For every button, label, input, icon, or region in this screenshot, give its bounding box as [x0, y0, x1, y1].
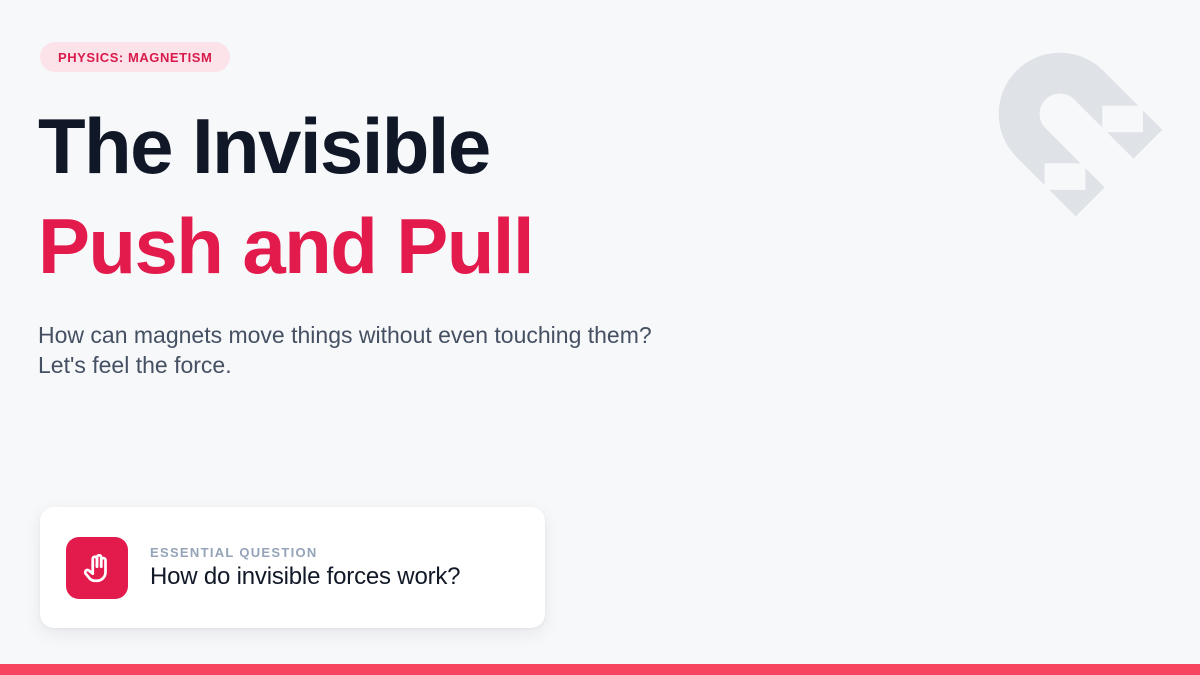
essential-question-value: How do invisible forces work?: [150, 563, 460, 591]
page-title: The Invisible Push and Pull: [38, 96, 758, 296]
subject-badge: PHYSICS: MAGNETISM: [40, 42, 230, 72]
subtitle-text: How can magnets move things without even…: [38, 320, 698, 380]
essential-question-label: ESSENTIAL QUESTION: [150, 545, 460, 560]
raised-hand-icon: [66, 537, 128, 599]
horseshoe-magnet-icon: [968, 22, 1172, 226]
title-slide: PHYSICS: MAGNETISM The Invisible Push an…: [0, 0, 1200, 675]
accent-bar: [0, 664, 1200, 675]
essential-question-card: ESSENTIAL QUESTION How do invisible forc…: [40, 507, 545, 628]
title-line-1: The Invisible: [38, 96, 758, 196]
essential-question-text: ESSENTIAL QUESTION How do invisible forc…: [150, 545, 460, 591]
title-line-2: Push and Pull: [38, 196, 758, 296]
